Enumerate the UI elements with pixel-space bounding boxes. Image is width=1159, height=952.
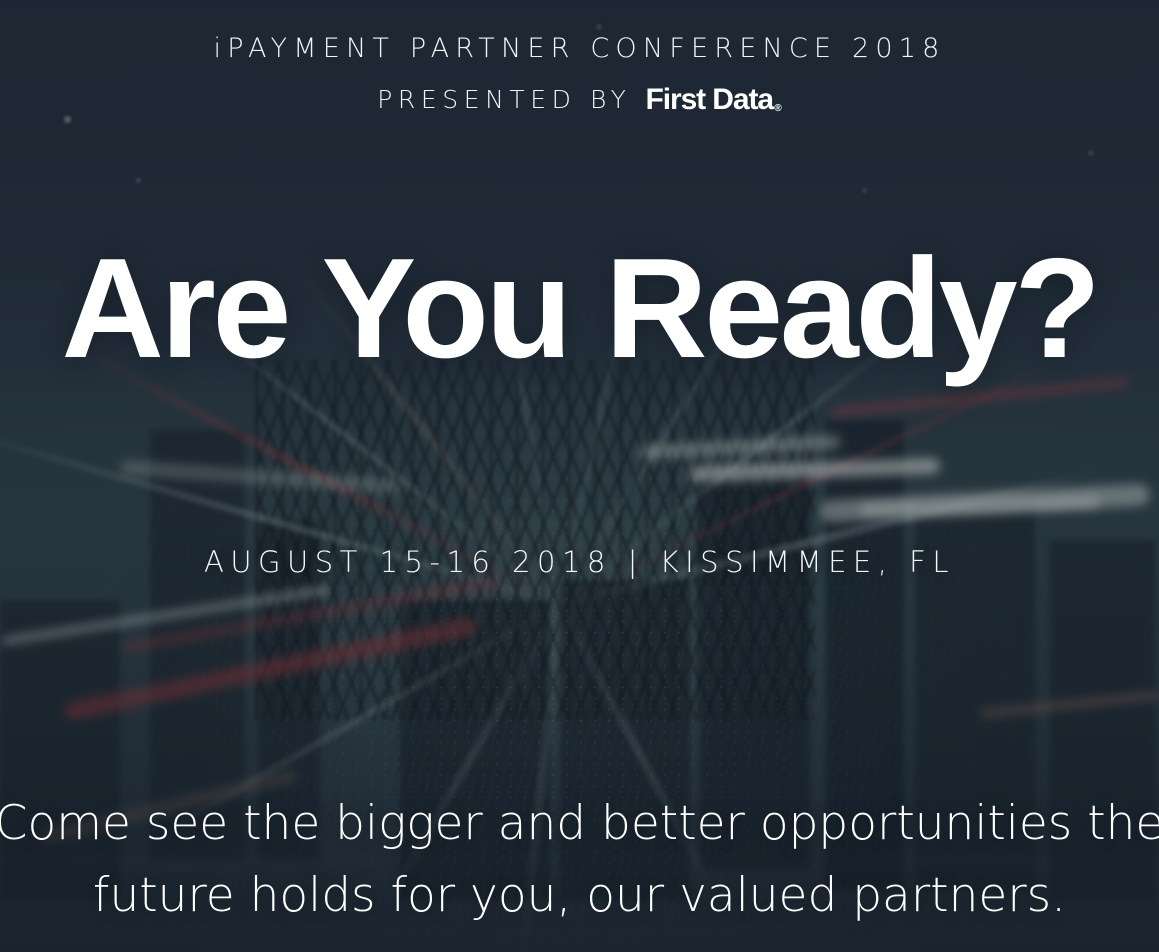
event-date-location-bar: AUGUST 15-16 2018 | KISSIMMEE, FL bbox=[0, 545, 1159, 579]
conference-hero-banner: iPAYMENT PARTNER CONFERENCE 2018 PRESENT… bbox=[0, 0, 1159, 952]
presented-by-row: PRESENTED BY First Data ® bbox=[0, 84, 1159, 114]
presented-by-label: PRESENTED BY bbox=[377, 85, 631, 114]
first-data-logo: First Data ® bbox=[646, 85, 782, 115]
event-dates: AUGUST 15-16 2018 bbox=[204, 545, 612, 579]
event-location: KISSIMMEE, FL bbox=[660, 545, 955, 579]
tagline-line-2: future holds for you, our valued partner… bbox=[0, 860, 1159, 932]
first-data-logo-text: First Data bbox=[646, 85, 773, 115]
hero-content: iPAYMENT PARTNER CONFERENCE 2018 PRESENT… bbox=[0, 0, 1159, 952]
hero-headline: Are You Ready? bbox=[0, 238, 1159, 380]
date-location-separator: | bbox=[628, 545, 644, 579]
tagline-line-1: Come see the bigger and better opportuni… bbox=[0, 788, 1159, 860]
registered-trademark-icon: ® bbox=[774, 104, 781, 114]
conference-title-eyebrow: iPAYMENT PARTNER CONFERENCE 2018 bbox=[0, 33, 1159, 64]
hero-tagline: Come see the bigger and better opportuni… bbox=[0, 788, 1159, 933]
